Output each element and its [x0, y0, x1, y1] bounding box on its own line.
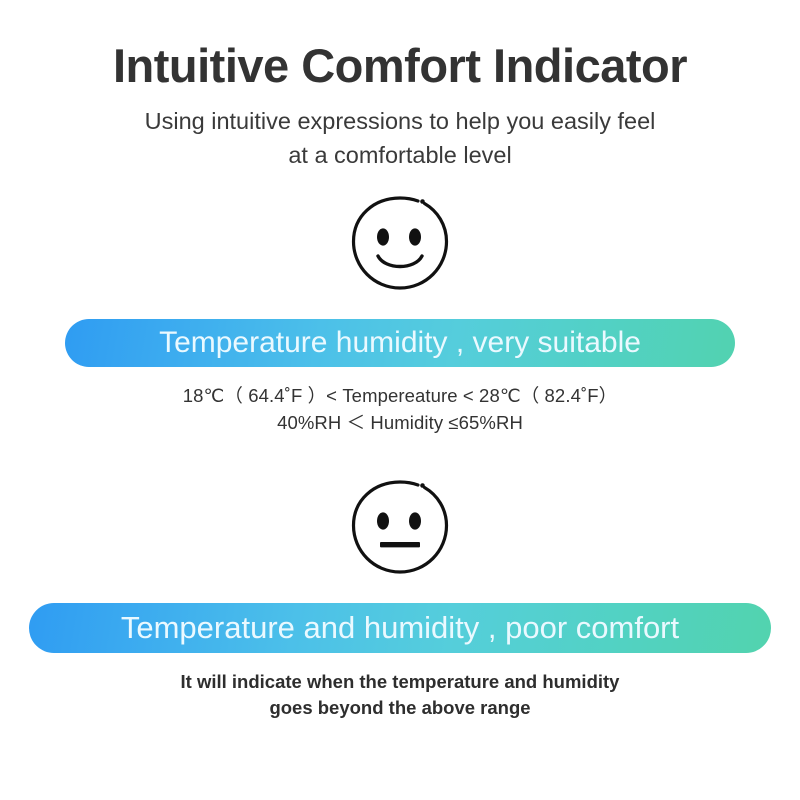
temperature-range-text: 18℃（ 64.4˚F ）< Tempereature < 28℃（ 82.4˚…	[183, 383, 617, 409]
poor-comfort-note: It will indicate when the temperature an…	[181, 653, 620, 722]
smiley-face-neutral-icon	[348, 478, 452, 588]
status-banner-poor-comfort: Temperature and humidity , poor comfort	[29, 603, 771, 653]
comfort-range-caption: 18℃（ 64.4˚F ）< Tempereature < 28℃（ 82.4˚…	[183, 367, 617, 436]
comfort-indicator-page: Intuitive Comfort Indicator Using intuit…	[0, 0, 800, 800]
poor-comfort-note-line-2: goes beyond the above range	[181, 695, 620, 721]
status-banner-comfortable: Temperature humidity , very suitable	[65, 319, 735, 367]
poor-comfort-note-line-1: It will indicate when the temperature an…	[181, 669, 620, 695]
subtitle-line-2: at a comfortable level	[145, 138, 656, 172]
page-title: Intuitive Comfort Indicator	[113, 0, 687, 90]
smiley-face-happy-icon	[348, 194, 452, 304]
subtitle-line-1: Using intuitive expressions to help you …	[145, 104, 656, 138]
page-subtitle: Using intuitive expressions to help you …	[145, 90, 656, 172]
happy-face-container	[0, 194, 800, 304]
humidity-range-text: 40%RH ＜ Humidity ≤65%RH	[183, 410, 617, 436]
neutral-face-container	[0, 478, 800, 588]
